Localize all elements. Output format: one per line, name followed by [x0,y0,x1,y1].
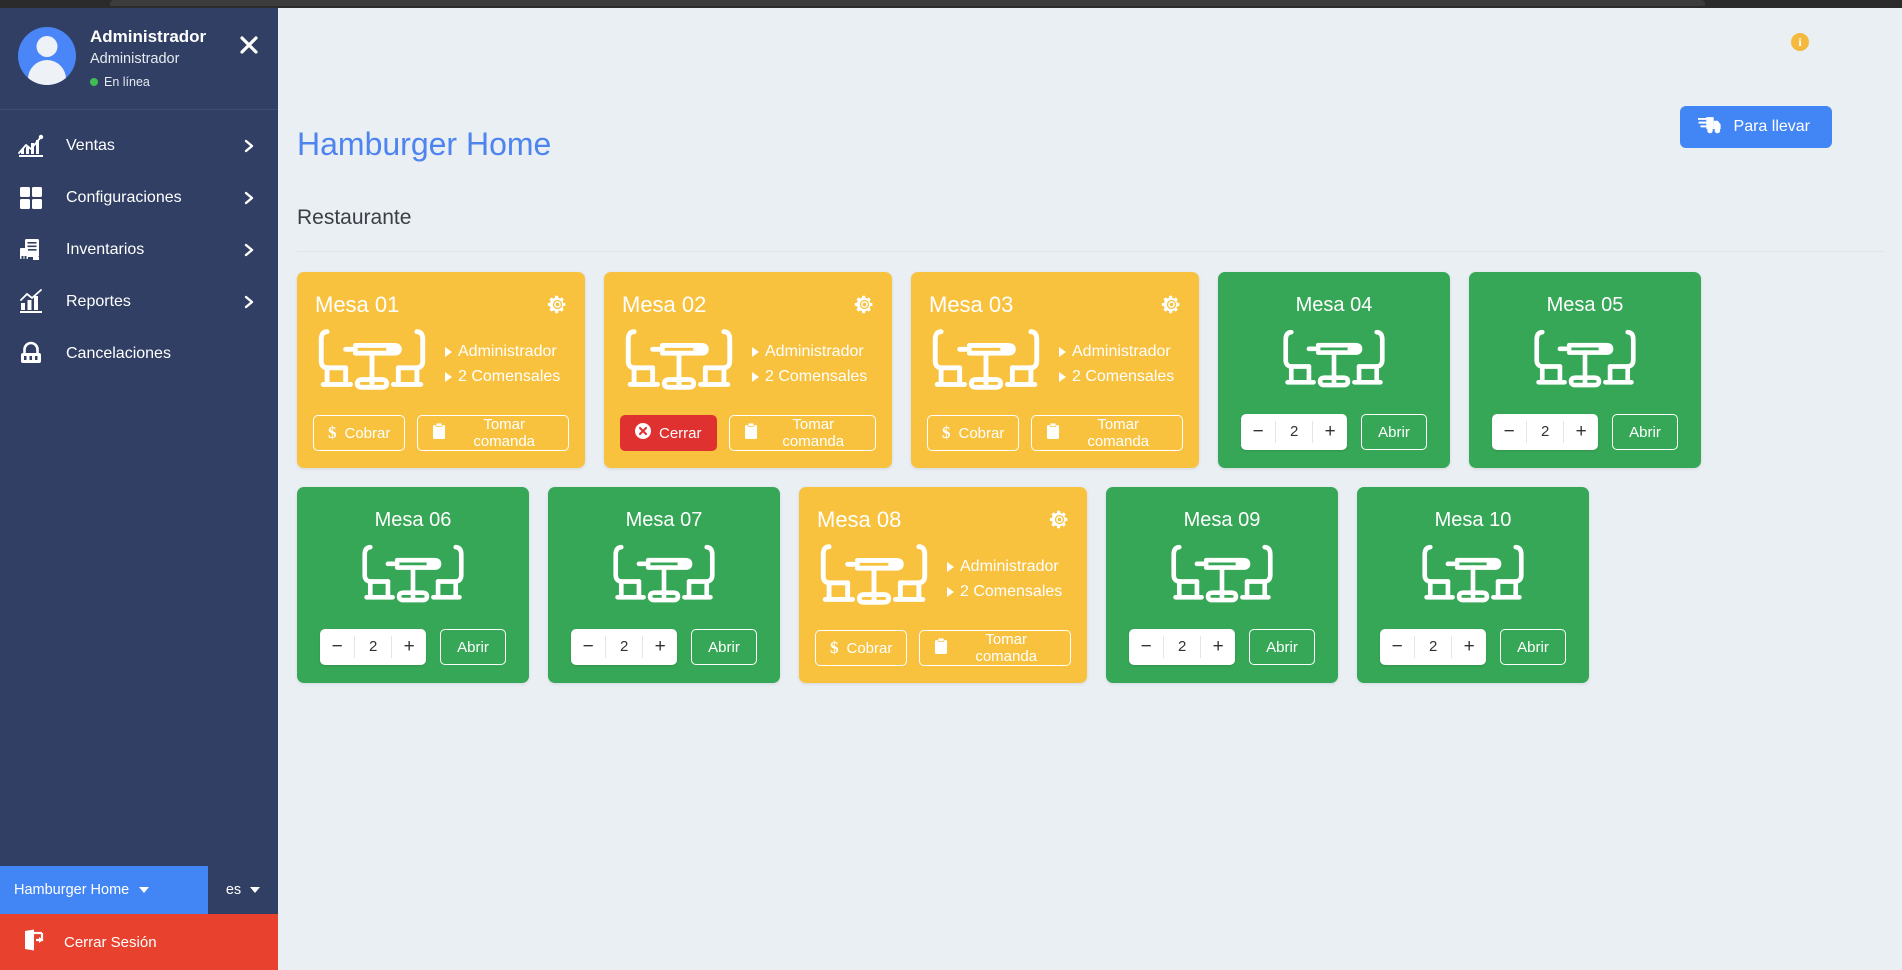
dollar-icon: $ [830,638,839,658]
table-card-free[interactable]: Mesa 05 − 2 + Abrir [1469,272,1701,468]
sidebar-profile: Administrador Administrador En línea [0,8,278,110]
table-chairs-icon [1417,536,1529,619]
tomar-comanda-button[interactable]: Tomar comanda [919,630,1071,666]
abrir-button[interactable]: Abrir [1249,629,1315,665]
increment-button[interactable]: + [643,629,677,665]
sidebar-item-configuraciones[interactable]: Configuraciones [0,172,278,224]
table-card-busy[interactable]: Mesa 01 Administrador 2 Comensales $Cobr… [297,272,585,468]
gear-icon[interactable] [1161,294,1182,315]
reports-bar-chart-icon [14,287,48,317]
bullet-triangle-icon [947,562,954,572]
bullet-triangle-icon [1059,372,1066,382]
chevron-right-icon [242,243,256,257]
table-chairs-icon [1529,321,1641,404]
section-title: Restaurante [297,206,411,230]
diners-stepper[interactable]: − 2 + [1241,414,1347,450]
table-name: Mesa 08 [817,507,1071,533]
brand-selector[interactable]: Hamburger Home [0,866,208,914]
table-chairs-icon [927,320,1045,407]
diners-count: 2 [1526,421,1564,443]
info-badge[interactable]: i [1791,33,1809,51]
profile-status-label: En línea [104,75,150,89]
online-dot-icon [90,78,98,86]
para-llevar-button[interactable]: Para llevar [1680,106,1832,148]
sidebar-bottom-bar: Hamburger Home es [0,866,278,914]
increment-button[interactable]: + [1201,629,1235,665]
cobrar-button[interactable]: $Cobrar [815,630,907,666]
table-diners: 2 Comensales [445,365,560,390]
gear-icon[interactable] [854,294,875,315]
sidebar-item-cancelaciones[interactable]: Cancelaciones [0,328,278,380]
table-waiter: Administrador [1059,340,1174,365]
chevron-right-icon [242,295,256,309]
bullet-triangle-icon [445,347,452,357]
tomar-comanda-button[interactable]: Tomar comanda [729,415,876,451]
diners-stepper[interactable]: − 2 + [571,629,677,665]
diners-count: 2 [605,636,643,658]
table-name: Mesa 05 [1485,294,1685,317]
table-chairs-icon [357,536,469,619]
abrir-button[interactable]: Abrir [1361,414,1427,450]
logout-icon [22,928,46,956]
profile-status: En línea [90,75,260,89]
cobrar-button[interactable]: $Cobrar [927,415,1019,451]
sidebar: Administrador Administrador En línea [0,8,278,970]
settings-grid-icon [14,183,48,213]
table-name: Mesa 02 [622,292,876,318]
table-chairs-icon [815,535,933,622]
table-card-busy[interactable]: Mesa 08 Administrador 2 Comensales $Cobr… [799,487,1087,683]
close-icon[interactable] [238,34,260,56]
decrement-button[interactable]: − [1492,414,1526,450]
chevron-right-icon [242,191,256,205]
chevron-down-icon [250,887,260,893]
sidebar-item-label: Reportes [66,293,224,311]
cerrar-button[interactable]: Cerrar [620,415,717,451]
dollar-icon: $ [328,423,337,443]
table-card-free[interactable]: Mesa 10 − 2 + Abrir [1357,487,1589,683]
language-selector[interactable]: es [208,866,278,914]
table-chairs-icon [620,320,738,407]
bullet-triangle-icon [752,372,759,382]
increment-button[interactable]: + [1313,414,1347,450]
sidebar-item-ventas[interactable]: Ventas [0,120,278,172]
table-diners: 2 Comensales [1059,365,1174,390]
table-name: Mesa 10 [1373,509,1573,532]
profile-name: Administrador [90,26,260,49]
decrement-button[interactable]: − [571,629,605,665]
browser-tab-ghost [110,0,1705,6]
abrir-button[interactable]: Abrir [691,629,757,665]
abrir-button[interactable]: Abrir [440,629,506,665]
sidebar-nav: Ventas Configuraciones [0,110,278,380]
logout-button[interactable]: Cerrar Sesión [0,914,278,970]
abrir-button[interactable]: Abrir [1612,414,1678,450]
table-chairs-icon [1166,536,1278,619]
diners-stepper[interactable]: − 2 + [1492,414,1598,450]
page-title: Hamburger Home [297,126,551,163]
para-llevar-label: Para llevar [1734,118,1810,136]
table-waiter: Administrador [752,340,867,365]
table-name: Mesa 09 [1122,509,1322,532]
table-name: Mesa 03 [929,292,1183,318]
table-chairs-icon [608,536,720,619]
user-avatar-icon [18,27,76,85]
browser-top-strip [0,0,1902,8]
abrir-button[interactable]: Abrir [1500,629,1566,665]
increment-button[interactable]: + [1452,629,1486,665]
sidebar-item-label: Ventas [66,137,224,155]
language-selector-label: es [226,882,241,898]
clipboard-icon [744,423,758,444]
close-circle-icon [635,423,651,443]
cobrar-button[interactable]: $Cobrar [313,415,405,451]
clipboard-icon [1046,423,1060,444]
diners-stepper[interactable]: − 2 + [1380,629,1486,665]
increment-button[interactable]: + [1564,414,1598,450]
section-divider [297,251,1883,252]
inventory-boxes-icon [14,235,48,265]
tables-grid: Mesa 01 Administrador 2 Comensales $Cobr… [297,272,1883,683]
table-card-free[interactable]: Mesa 04 − 2 + Abrir [1218,272,1450,468]
decrement-button[interactable]: − [320,629,354,665]
sidebar-item-label: Inventarios [66,241,224,259]
sidebar-item-reportes[interactable]: Reportes [0,276,278,328]
table-waiter: Administrador [445,340,560,365]
diners-count: 2 [1414,636,1452,658]
delivery-truck-icon [1698,115,1722,139]
sidebar-spacer [0,380,278,866]
diners-stepper[interactable]: − 2 + [1129,629,1235,665]
lock-icon [14,339,48,369]
sidebar-item-inventarios[interactable]: Inventarios [0,224,278,276]
table-card-free[interactable]: Mesa 09 − 2 + Abrir [1106,487,1338,683]
sidebar-item-label: Cancelaciones [66,345,224,363]
decrement-button[interactable]: − [1129,629,1163,665]
sales-chart-icon [14,131,48,161]
table-card-free[interactable]: Mesa 07 − 2 + Abrir [548,487,780,683]
clipboard-icon [934,638,948,659]
table-name: Mesa 06 [313,509,513,532]
table-chairs-icon [313,320,431,407]
brand-selector-label: Hamburger Home [14,882,129,898]
bullet-triangle-icon [752,347,759,357]
bullet-triangle-icon [445,372,452,382]
diners-count: 2 [1163,636,1201,658]
sidebar-item-label: Configuraciones [66,189,224,207]
gear-icon[interactable] [1049,509,1070,530]
table-diners: 2 Comensales [752,365,867,390]
table-card-busy[interactable]: Mesa 03 Administrador 2 Comensales $Cobr… [911,272,1199,468]
profile-role: Administrador [90,49,260,71]
decrement-button[interactable]: − [1241,414,1275,450]
table-diners: 2 Comensales [947,580,1062,605]
diners-count: 2 [1275,421,1313,443]
logout-label: Cerrar Sesión [64,934,157,951]
decrement-button[interactable]: − [1380,629,1414,665]
diners-stepper[interactable]: − 2 + [320,629,426,665]
tomar-comanda-button[interactable]: Tomar comanda [1031,415,1183,451]
bullet-triangle-icon [1059,347,1066,357]
clipboard-icon [432,423,446,444]
increment-button[interactable]: + [392,629,426,665]
table-name: Mesa 01 [315,292,569,318]
gear-icon[interactable] [547,294,568,315]
chevron-down-icon [139,887,149,893]
dollar-icon: $ [942,423,951,443]
table-name: Mesa 07 [564,509,764,532]
table-card-free[interactable]: Mesa 06 − 2 + Abrir [297,487,529,683]
chevron-right-icon [242,139,256,153]
bullet-triangle-icon [947,587,954,597]
table-card-busy[interactable]: Mesa 02 Administrador 2 Comensales Cerra… [604,272,892,468]
table-name: Mesa 04 [1234,294,1434,317]
tomar-comanda-button[interactable]: Tomar comanda [417,415,569,451]
diners-count: 2 [354,636,392,658]
table-waiter: Administrador [947,555,1062,580]
table-chairs-icon [1278,321,1390,404]
main-content: i Para llevar Hamburger Home Restaurante [278,8,1902,970]
